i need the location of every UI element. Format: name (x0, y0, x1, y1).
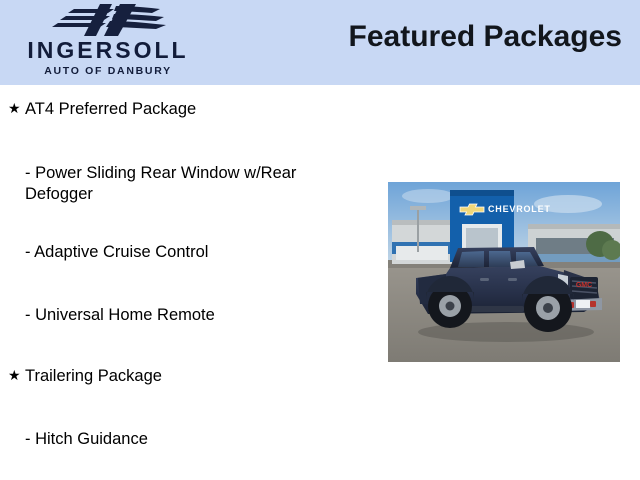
package-group: ★ AT4 Preferred Package - Power Sliding … (0, 99, 370, 326)
svg-text:GMC: GMC (576, 282, 592, 289)
package-group: ★ Trailering Package - Hitch Guidance (0, 366, 370, 450)
star-bullet-icon: ★ (8, 366, 25, 385)
page-content: ★ AT4 Preferred Package - Power Sliding … (0, 85, 640, 480)
page-title: Featured Packages (349, 20, 622, 54)
dealer-logo: INGERSOLL AUTO OF DANBURY (8, 2, 208, 84)
package-name: AT4 Preferred Package (25, 99, 370, 120)
svg-text:CHEVROLET: CHEVROLET (488, 204, 551, 214)
package-feature: - Hitch Guidance (0, 429, 370, 450)
package-feature: - Universal Home Remote (0, 305, 370, 326)
pickup-truck-photo: CHEVROLET (388, 182, 620, 362)
brand-subtitle: AUTO OF DANBURY (8, 66, 208, 77)
package-feature: - Adaptive Cruise Control (0, 242, 370, 263)
package-name: Trailering Package (25, 366, 370, 387)
winged-if-emblem-icon (44, 2, 172, 38)
page-header: INGERSOLL AUTO OF DANBURY Featured Packa… (0, 0, 640, 85)
brand-name: INGERSOLL (8, 39, 208, 62)
package-title: ★ AT4 Preferred Package (0, 99, 370, 120)
package-title: ★ Trailering Package (0, 366, 370, 387)
package-feature: - Power Sliding Rear Window w/Rear Defog… (0, 163, 370, 205)
package-list: ★ AT4 Preferred Package - Power Sliding … (0, 85, 370, 450)
star-bullet-icon: ★ (8, 99, 25, 118)
